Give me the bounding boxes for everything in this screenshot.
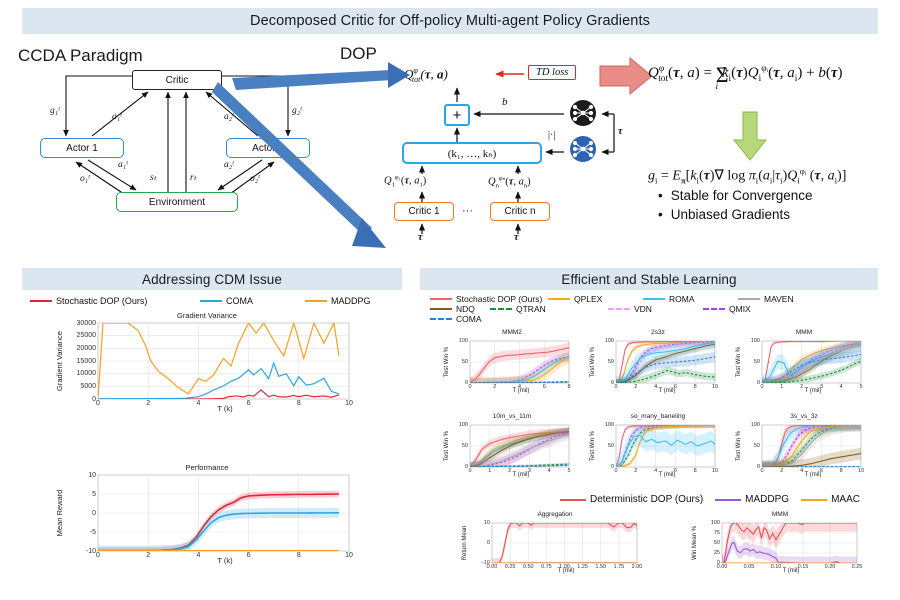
legend-label: Stochastic DOP (Ours) <box>56 296 147 306</box>
ccda-edge-label-g2: g₂ᵗ <box>292 106 302 116</box>
ccda-edge-label-o1: o₁ᵗ <box>80 174 90 184</box>
y-axis-label: Test Win % <box>736 347 742 377</box>
dop-diagram: Qφtot(τ, a) TD loss + b |·| <box>392 62 642 242</box>
y-tick-label: 75 <box>700 530 720 536</box>
legend-label: MAAC <box>831 494 860 505</box>
x-tick-label: 8 <box>561 384 577 390</box>
legend-esl: Stochastic DOP (Ours)QPLEXROMAMAVENNDQQT… <box>430 294 890 324</box>
y-tick-label: 0 <box>744 380 760 386</box>
chart-10m-vs-11m: 10m_vs_11mTest Win %T (mil)012345050100 <box>452 422 572 478</box>
y-tick-label: 5000 <box>62 383 96 390</box>
x-tick-label: 2 <box>140 552 156 559</box>
y-tick-label: 25 <box>700 550 720 556</box>
y-tick-label: -10 <box>62 548 96 555</box>
y-axis-label: Win Mean % <box>692 526 698 560</box>
x-axis-label: T (k) <box>80 404 370 413</box>
chart-gradient-variance: Gradient VarianceGradient VarianceT (k)0… <box>62 320 352 415</box>
x-tick-label: 10 <box>341 400 357 407</box>
y-tick-label: 50 <box>700 540 720 546</box>
legend-label: QPLEX <box>574 294 602 304</box>
chart-title: Gradient Variance <box>62 311 352 320</box>
legend-item: MAVEN <box>738 294 833 304</box>
x-tick-label: 8 <box>687 384 703 390</box>
legend-item: Stochastic DOP (Ours) <box>430 294 548 304</box>
legend-swatch <box>738 298 760 300</box>
y-tick-label: 25000 <box>62 332 96 339</box>
legend-label: COMA <box>456 314 482 324</box>
y-tick-label: 5 <box>62 491 96 498</box>
x-tick-label: 0.50 <box>520 564 536 570</box>
legend-deterministic: Deterministic DOP (Ours)MADDPGMAAC <box>560 494 900 505</box>
x-tick-label: 10 <box>341 552 357 559</box>
legend-swatch <box>490 308 512 310</box>
y-tick-label: 50 <box>744 359 760 365</box>
dop-tau-bus: τ <box>618 126 622 137</box>
chart-mmm-deterministic: MMMWin Mean %T (mil)0.000.050.100.150.20… <box>700 520 860 576</box>
x-tick-label: 4 <box>512 384 528 390</box>
legend-item: MADDPG <box>305 296 410 306</box>
dop-k-vector-box: (k₁, …, kₙ) <box>402 142 542 164</box>
y-axis-label: Test Win % <box>444 431 450 461</box>
chart-title: MMM <box>700 511 860 518</box>
x-axis-label: T (mil) <box>711 568 871 574</box>
x-tick-label: 3 <box>813 384 829 390</box>
legend-label: QTRAN <box>516 304 546 314</box>
y-tick-label: 50 <box>452 359 468 365</box>
y-axis-label: Test Win % <box>590 431 596 461</box>
x-tick-label: 1.25 <box>575 564 591 570</box>
y-tick-label: -10 <box>470 560 490 566</box>
x-tick-label: 4 <box>648 468 664 474</box>
legend-label: ROMA <box>669 294 695 304</box>
y-tick-label: 0 <box>452 464 468 470</box>
dop-critics-ellipsis: ··· <box>462 205 473 217</box>
legend-item: COMA <box>200 296 305 306</box>
y-axis-label: Test Win % <box>444 347 450 377</box>
ccda-edge-label-s: sₜ <box>150 172 157 183</box>
ccda-node-environment: Environment <box>116 192 238 212</box>
dop-critic-1-box: Critic 1 <box>394 202 454 221</box>
ccda-edge-label-r: rₜ <box>190 172 197 183</box>
x-tick-label: 1.00 <box>557 564 573 570</box>
legend-item: COMA <box>430 314 525 324</box>
y-tick-label: 0 <box>470 540 490 546</box>
x-tick-label: 10 <box>707 468 723 474</box>
legend-swatch <box>430 298 452 300</box>
chart-title: Performance <box>62 463 352 472</box>
ccda-edge-label-a1-top: a₁ᵗ <box>112 112 122 122</box>
mixing-network-blue-icon <box>570 136 596 162</box>
legend-swatch <box>715 499 741 501</box>
x-tick-label: 2.00 <box>629 564 645 570</box>
dop-critic-n-box: Critic n <box>490 202 550 221</box>
y-tick-label: 100 <box>744 422 760 428</box>
legend-item: QTRAN <box>490 304 608 314</box>
chart-3s-vs-3z: 3s_vs_3zTest Win %T (mil)0246810050100 <box>744 422 864 478</box>
x-tick-label: 1.75 <box>611 564 627 570</box>
x-tick-label: 8 <box>291 552 307 559</box>
x-tick-label: 0.75 <box>538 564 554 570</box>
ccda-section-label: CCDA Paradigm <box>18 46 143 66</box>
y-tick-label: 0 <box>598 464 614 470</box>
bullet-marker: • <box>658 205 663 224</box>
ccda-node-actor-1: Actor 1 <box>40 138 124 158</box>
x-tick-label: 10 <box>707 384 723 390</box>
x-tick-label: 8 <box>833 468 849 474</box>
y-tick-label: 0 <box>744 464 760 470</box>
x-tick-label: 5 <box>853 384 869 390</box>
dop-tau-critic-1: τ <box>418 232 422 243</box>
y-tick-label: 100 <box>598 422 614 428</box>
y-tick-label: 100 <box>744 338 760 344</box>
chart-title: Aggregation <box>470 511 640 518</box>
x-tick-label: 1.50 <box>593 564 609 570</box>
x-tick-label: 3 <box>521 468 537 474</box>
legend-swatch <box>608 308 630 310</box>
chart-so-many-baneling: so_many_banelingTest Win %T (mil)0246810… <box>598 422 718 478</box>
dop-b-label: b <box>502 96 508 108</box>
y-tick-label: 100 <box>598 338 614 344</box>
y-axis-label: Test Win % <box>590 347 596 377</box>
dop-q-tot-label: Qφtot(τ, a) <box>404 66 448 84</box>
x-tick-label: 2 <box>628 384 644 390</box>
x-tick-label: 2 <box>794 384 810 390</box>
x-tick-label: 6 <box>667 384 683 390</box>
x-tick-label: 8 <box>687 468 703 474</box>
y-tick-label: 10 <box>470 520 490 526</box>
x-tick-label: 2 <box>774 468 790 474</box>
ccda-edge-label-o2: o₂ᵗ <box>250 174 260 184</box>
poster-root: Decomposed Critic for Off-policy Multi-a… <box>0 0 900 600</box>
chart-mmm2: MMM2Test Win %T (mil)02468050100 <box>452 338 572 394</box>
x-tick-label: 2 <box>628 468 644 474</box>
ccda-edge-label-a1-bot: a₁ᵗ <box>118 160 128 170</box>
y-tick-label: 50 <box>452 443 468 449</box>
y-tick-label: 50 <box>744 443 760 449</box>
y-tick-label: 30000 <box>62 320 96 327</box>
y-tick-label: 10000 <box>62 370 96 377</box>
dop-q-phi-1-label: Q1φ₁(τ, a1) <box>384 174 426 189</box>
x-tick-label: 0.05 <box>741 564 757 570</box>
legend-swatch <box>703 308 725 310</box>
x-tick-label: 6 <box>536 384 552 390</box>
legend-label: MADDPG <box>745 494 789 505</box>
chart-title: 2s3z <box>598 329 718 336</box>
x-tick-label: 6 <box>241 400 257 407</box>
dop-abs-label: |·| <box>548 130 555 141</box>
y-tick-label: 0 <box>452 380 468 386</box>
y-tick-label: 0 <box>62 396 96 403</box>
legend-item: QPLEX <box>548 294 643 304</box>
y-tick-label: 10 <box>62 472 96 479</box>
ccda-node-actor-2: Actor 2 <box>226 138 310 158</box>
legend-cdm: Stochastic DOP (Ours)COMAMADDPG <box>30 296 410 306</box>
ccda-edge-label-a2-bot: a₂ᵗ <box>224 160 234 170</box>
legend-label: MADDPG <box>331 296 371 306</box>
legend-item: ROMA <box>643 294 738 304</box>
legend-swatch <box>200 300 222 302</box>
legend-label: Stochastic DOP (Ours) <box>456 294 542 304</box>
x-tick-label: 0.25 <box>502 564 518 570</box>
x-tick-label: 1 <box>774 384 790 390</box>
x-tick-label: 2 <box>487 384 503 390</box>
x-tick-label: 0.20 <box>822 564 838 570</box>
x-tick-label: 0.10 <box>768 564 784 570</box>
x-tick-label: 4 <box>648 384 664 390</box>
chart-title: MMM2 <box>452 329 572 336</box>
legend-swatch <box>548 298 570 300</box>
x-tick-label: 4 <box>541 468 557 474</box>
y-tick-label: 15000 <box>62 358 96 365</box>
x-tick-label: 4 <box>833 384 849 390</box>
dop-plus-node: + <box>444 104 470 126</box>
banner-addressing-cdm-issue: Addressing CDM Issue <box>22 268 402 290</box>
dop-section-label: DOP <box>340 44 377 64</box>
chart-title: MMM <box>744 329 864 336</box>
mixing-network-black-icon <box>570 100 596 126</box>
y-tick-label: 0 <box>62 510 96 517</box>
ccda-node-critic: Critic <box>132 70 222 90</box>
td-loss-box: TD loss <box>528 65 576 80</box>
dop-q-phi-n-label: Qnφₙ(τ, an) <box>488 174 531 190</box>
legend-label: NDQ <box>456 304 475 314</box>
chart-performance: PerformanceMean RewardT (k)0246810-10-50… <box>62 472 352 567</box>
y-tick-label: 0 <box>700 560 720 566</box>
legend-item: VDN <box>608 304 703 314</box>
x-tick-label: 6 <box>813 468 829 474</box>
legend-label: MAVEN <box>764 294 794 304</box>
x-tick-label: 8 <box>291 400 307 407</box>
legend-item: Deterministic DOP (Ours) <box>560 494 703 505</box>
x-tick-label: 6 <box>667 468 683 474</box>
y-tick-label: 50 <box>598 359 614 365</box>
x-tick-label: 4 <box>794 468 810 474</box>
chart-title: 3s_vs_3z <box>744 413 864 420</box>
legend-label: VDN <box>634 304 652 314</box>
legend-swatch <box>801 499 827 501</box>
legend-item: Stochastic DOP (Ours) <box>30 296 200 306</box>
bullet-item: • Stable for Convergence <box>658 186 813 205</box>
chart-title: 10m_vs_11m <box>452 413 572 420</box>
x-tick-label: 10 <box>853 468 869 474</box>
y-tick-label: 20000 <box>62 345 96 352</box>
x-tick-label: 5 <box>561 468 577 474</box>
legend-item: QMIX <box>703 304 798 314</box>
legend-item: NDQ <box>430 304 490 314</box>
legend-swatch <box>30 300 52 302</box>
legend-swatch <box>560 499 586 501</box>
legend-label: Deterministic DOP (Ours) <box>590 494 703 505</box>
ccda-edge-label-g1: g₁ᵗ <box>50 106 60 116</box>
bullet-label: Stable for Convergence <box>671 186 813 205</box>
x-tick-label: 0.25 <box>849 564 865 570</box>
legend-label: COMA <box>226 296 253 306</box>
y-tick-label: 50 <box>598 443 614 449</box>
chart-mmm: MMMTest Win %T (mil)012345050100 <box>744 338 864 394</box>
banner-efficient-stable-learning: Efficient and Stable Learning <box>420 268 878 290</box>
legend-item: MAAC <box>801 494 860 505</box>
equation-q-tot-decomposition: Qφtot(τ, a) = Σi ki(τ)Qiφᵢ(τ, ai) + b(τ) <box>648 62 843 92</box>
x-tick-label: 6 <box>241 552 257 559</box>
legend-swatch <box>305 300 327 302</box>
legend-item: MADDPG <box>715 494 789 505</box>
y-axis-label: Test Win % <box>736 431 742 461</box>
ccda-diagram: Critic Actor 1 Actor 2 Environment g₁ᵗ g… <box>40 70 340 230</box>
legend-label: QMIX <box>729 304 751 314</box>
legend-swatch <box>430 318 452 320</box>
x-axis-label: T (k) <box>80 556 370 565</box>
x-tick-label: 2 <box>502 468 518 474</box>
y-tick-label: 100 <box>452 422 468 428</box>
bullet-marker: • <box>658 186 663 205</box>
legend-swatch <box>643 298 665 300</box>
legend-swatch <box>430 308 452 310</box>
equation-policy-gradient: gi = Eπ[ki(τ)∇ log πi(ai|τi)Qiφᵢ (τ, ai)… <box>648 166 846 185</box>
y-tick-label: 0 <box>598 380 614 386</box>
x-tick-label: 4 <box>190 552 206 559</box>
y-tick-label: 100 <box>452 338 468 344</box>
x-tick-label: 4 <box>190 400 206 407</box>
y-axis-label: Return Mean <box>462 526 468 561</box>
x-tick-label: 0.15 <box>795 564 811 570</box>
chart-2s3z: 2s3zTest Win %T (mil)0246810050100 <box>598 338 718 394</box>
y-tick-label: -5 <box>62 529 96 536</box>
bullet-label: Unbiased Gradients <box>671 205 790 224</box>
bullet-item: • Unbiased Gradients <box>658 205 813 224</box>
key-properties-list: • Stable for Convergence • Unbiased Grad… <box>658 186 813 224</box>
chart-title: so_many_baneling <box>598 413 718 420</box>
ccda-edge-label-a2-top: a₂ᵗ <box>224 112 234 122</box>
y-tick-label: 100 <box>700 520 720 526</box>
x-tick-label: 2 <box>140 400 156 407</box>
poster-title-banner: Decomposed Critic for Off-policy Multi-a… <box>22 8 878 34</box>
chart-aggregation: AggregationReturn MeanT (mil)0.000.250.5… <box>470 520 640 576</box>
x-tick-label: 1 <box>482 468 498 474</box>
dop-tau-critic-n: τ <box>514 232 518 243</box>
